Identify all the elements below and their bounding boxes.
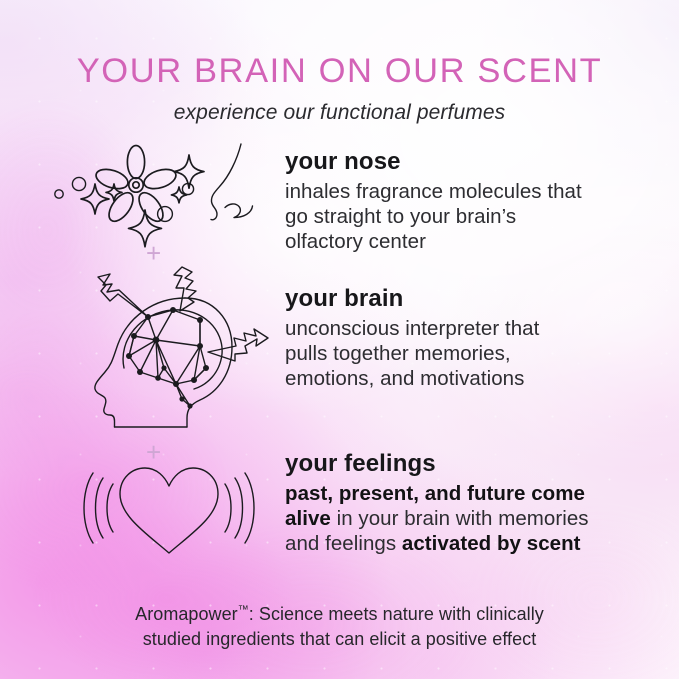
section-your-feelings: your feelings past, present, and future … — [0, 450, 679, 570]
section-body: inhales fragrance molecules that go stra… — [285, 179, 655, 254]
page-subtitle: experience our functional perfumes — [0, 101, 679, 124]
section-your-nose: your nose inhales fragrance molecules th… — [0, 140, 679, 260]
body-line: alive — [285, 507, 331, 530]
poster-content: YOUR BRAIN ON OUR SCENT experience our f… — [0, 0, 679, 679]
body-line: and feelings — [285, 532, 402, 555]
footer-note: Aromapower™: Science meets nature with c… — [0, 602, 679, 652]
body-line: go straight to your brain’s — [285, 205, 516, 228]
plus-separator-1: + — [146, 240, 161, 266]
page-title: YOUR BRAIN ON OUR SCENT — [0, 54, 679, 89]
body-line: pulls together memories, — [285, 342, 511, 365]
section-heading: your feelings — [285, 450, 660, 477]
body-line: activated by scent — [402, 532, 581, 555]
section-your-nose-text: your nose inhales fragrance molecules th… — [285, 148, 655, 254]
section-your-feelings-text: your feelings past, present, and future … — [285, 450, 660, 556]
body-line: emotions, and motivations — [285, 367, 524, 390]
footer-line2: studied ingredients that can elicit a po… — [143, 629, 537, 649]
section-heading: your nose — [285, 148, 655, 175]
section-heading: your brain — [285, 285, 655, 312]
section-body: past, present, and future come alive in … — [285, 481, 660, 556]
footer-line1: : Science meets nature with clinically — [249, 604, 544, 624]
body-line: past, present, and future come — [285, 482, 585, 505]
section-your-brain-text: your brain unconscious interpreter that … — [285, 285, 655, 391]
section-your-brain: your brain unconscious interpreter that … — [0, 272, 679, 422]
body-line: in your brain with memories — [331, 507, 589, 530]
head-brain-network-icon — [72, 272, 272, 427]
section-body: unconscious interpreter that pulls toget… — [285, 316, 655, 391]
heart-vibration-icon — [84, 460, 254, 565]
footer-brand: Aromapower — [135, 604, 238, 624]
poster-canvas: YOUR BRAIN ON OUR SCENT experience our f… — [0, 0, 679, 679]
body-line: olfactory center — [285, 230, 426, 253]
body-line: unconscious interpreter that — [285, 317, 539, 340]
body-line: inhales fragrance molecules that — [285, 180, 582, 203]
trademark-symbol: ™ — [238, 604, 249, 616]
